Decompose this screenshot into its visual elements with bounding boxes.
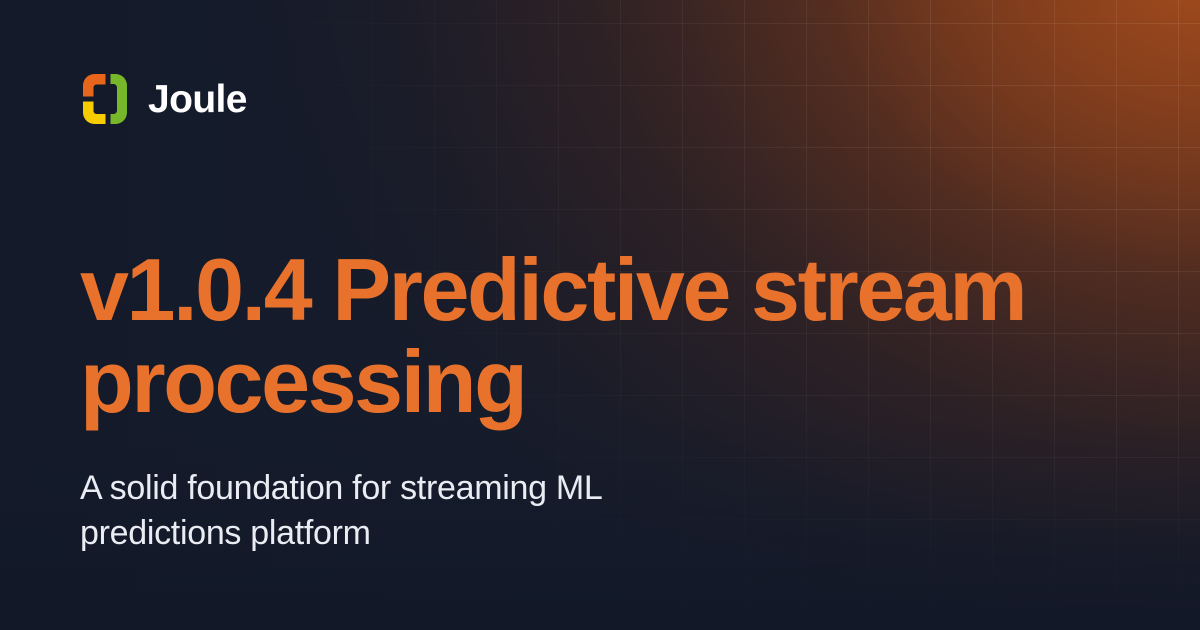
brand-name: Joule xyxy=(148,80,247,119)
card-content: Joule v1.0.4 Predictive stream processin… xyxy=(0,0,1200,630)
joule-bracket-logo-icon xyxy=(80,71,130,127)
release-announcement-card: Joule v1.0.4 Predictive stream processin… xyxy=(0,0,1200,630)
page-subtitle: A solid foundation for streaming ML pred… xyxy=(80,466,740,556)
page-title: v1.0.4 Predictive stream processing xyxy=(80,244,1090,427)
brand-lockup: Joule xyxy=(80,72,1120,126)
